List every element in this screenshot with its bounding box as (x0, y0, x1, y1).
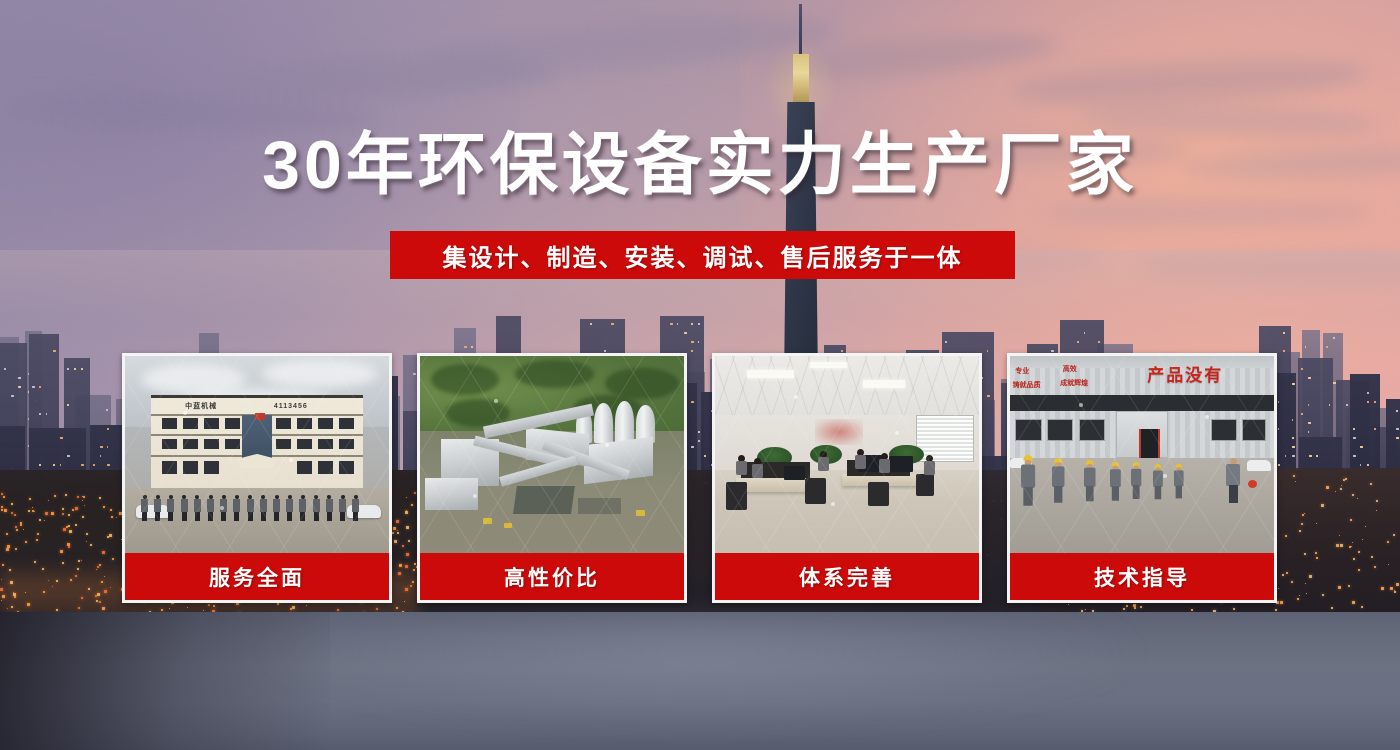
card-caption: 服务全面 (125, 553, 389, 600)
card-photo-workers-training: 产品没有 专业 高效 铸就品质 成就辉煌 (1010, 356, 1274, 553)
building-sign-text: 中蓝机械 (185, 403, 248, 410)
card-photo-office-interior (715, 356, 979, 553)
card-photo-office-building: 中蓝机械 4113456 (125, 356, 389, 553)
card-caption: 高性价比 (420, 553, 684, 600)
card-photo-industrial-plant (420, 356, 684, 553)
banner-stage: 30年环保设备实力生产厂家 集设计、制造、安装、调试、售后服务于一体 中蓝机械 … (0, 0, 1400, 750)
card-caption: 体系完善 (715, 553, 979, 600)
subtitle-text: 集设计、制造、安装、调试、售后服务于一体 (443, 238, 963, 273)
water-shadow-left (0, 612, 330, 750)
feature-card[interactable]: 体系完善 (712, 353, 982, 603)
feature-card[interactable]: 中蓝机械 4113456 (122, 353, 392, 603)
factory-sign-small-3: 铸就品质 (1013, 382, 1041, 390)
feature-card[interactable]: 产品没有 专业 高效 铸就品质 成就辉煌 (1007, 353, 1277, 603)
water-sheen (250, 618, 1150, 728)
page-title: 30年环保设备实力生产厂家 (0, 131, 1400, 199)
subtitle-bar: 集设计、制造、安装、调试、售后服务于一体 (390, 231, 1015, 279)
building-phone-text: 4113456 (274, 403, 350, 410)
factory-sign-small-4: 成就辉煌 (1060, 380, 1088, 388)
feature-card[interactable]: 高性价比 (417, 353, 687, 603)
factory-sign-text: 产品没有 (1147, 358, 1268, 390)
card-caption: 技术指导 (1010, 553, 1274, 600)
feature-card-list: 中蓝机械 4113456 (122, 353, 1278, 603)
factory-sign-small-1: 专业 (1015, 368, 1029, 376)
factory-sign-small-2: 高效 (1063, 366, 1077, 374)
